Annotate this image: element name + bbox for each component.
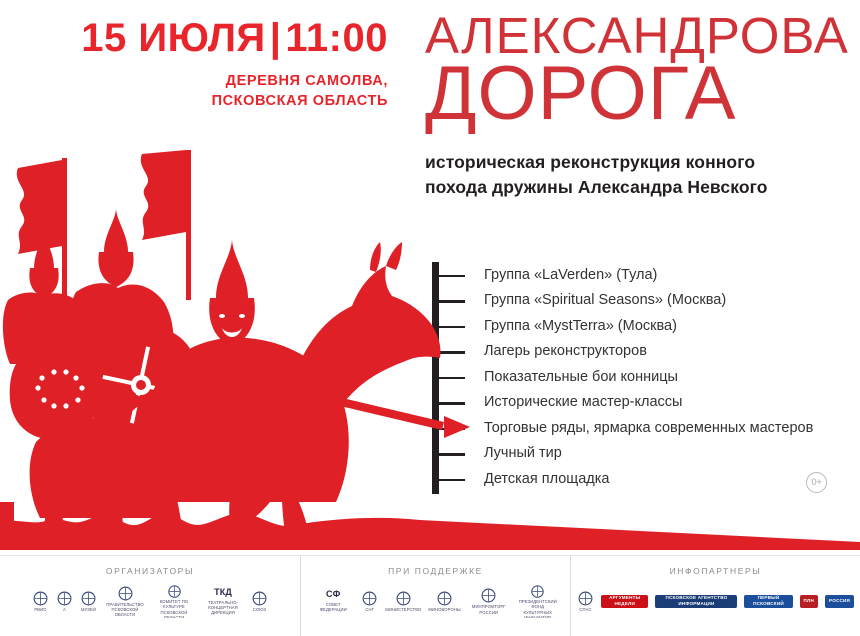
programme-item: Торговые ряды, ярмарка современных масте… — [432, 415, 852, 441]
age-rating-badge: 0+ — [806, 472, 827, 493]
programme-list-block: Группа «LaVerden» (Тула)Группа «Spiritua… — [432, 262, 852, 492]
support-heading: ПРИ ПОДДЕРЖКЕ — [301, 566, 570, 576]
partners-heading: ИНФОПАРТНЕРЫ — [571, 566, 860, 576]
museum-logo-caption: МУЗЕЙ — [81, 607, 96, 612]
event-date: 15 ИЮЛЯ — [81, 16, 265, 60]
cis-logo: СНГ — [361, 584, 378, 618]
aleksandr-nevsky-logo-caption: А — [63, 607, 66, 612]
organizers-logo-row: РВИОАМУЗЕЙПРАВИТЕЛЬСТВО ПСКОВСКОЙ ОБЛАСТ… — [0, 584, 300, 618]
argumenty-nedeli-logo: АРГУМЕНТЫ НЕДЕЛИ — [601, 595, 648, 608]
banner-left — [17, 160, 62, 254]
footer-partners: ИНФОПАРТНЕРЫ СПАСАРГУМЕНТЫ НЕДЕЛИПСКОВСК… — [570, 556, 860, 636]
date-location-block: 15 ИЮЛЯ|11:00 ДЕРЕВНЯ САМОЛВА, ПСКОВСКАЯ… — [0, 18, 400, 111]
support-logo-row: СФСОВЕТ ФЕДЕРАЦИИСНГМИНИСТЕРСТВОМИНОБОРО… — [301, 584, 570, 618]
programme-item-label: Группа «Spiritual Seasons» (Москва) — [484, 292, 726, 308]
rvio-logo-mark — [32, 590, 49, 607]
programme-list: Группа «LaVerden» (Тула)Группа «Spiritua… — [432, 262, 852, 492]
rvio-logo-caption: РВИО — [34, 607, 46, 612]
ministry-of-defence-logo-mark — [436, 590, 453, 607]
programme-item: Лагерь реконструкторов — [432, 339, 852, 365]
programme-item: Лучный тир — [432, 441, 852, 467]
programme-item-label: Торговые ряды, ярмарка современных масте… — [484, 420, 813, 436]
spas-tv-logo: СПАС — [577, 584, 594, 618]
banner-pole-middle — [186, 150, 191, 300]
footer: ОРГАНИЗАТОРЫ РВИОАМУЗЕЙПРАВИТЕЛЬСТВО ПСК… — [0, 555, 860, 636]
event-poster: 15 ИЮЛЯ|11:00 ДЕРЕВНЯ САМОЛВА, ПСКОВСКАЯ… — [0, 0, 860, 636]
footer-organizers: ОРГАНИЗАТОРЫ РВИОАМУЗЕЙПРАВИТЕЛЬСТВО ПСК… — [0, 556, 300, 636]
horse-ear-back — [370, 242, 381, 272]
banner-middle — [141, 150, 186, 240]
pskov-culture-committee-logo-caption: КОМИТЕТ ПО КУЛЬТУРЕ ПСКОВСКОЙ ОБЛАСТИ — [153, 599, 195, 618]
cis-logo-caption: СНГ — [365, 607, 374, 612]
minpromtorg-logo-caption: МИНПРОМТОРГ РОССИИ — [468, 604, 510, 615]
spas-tv-logo-mark — [577, 590, 594, 607]
museum-logo-mark — [80, 590, 97, 607]
programme-item-label: Группа «MystTerra» (Москва) — [484, 318, 677, 334]
programme-item-label: Детская площадка — [484, 471, 609, 487]
minpromtorg-logo-mark — [480, 587, 497, 604]
event-location: ДЕРЕВНЯ САМОЛВА, ПСКОВСКАЯ ОБЛАСТЬ — [0, 72, 388, 111]
presidential-cultural-fund-logo-caption: ПРЕЗИДЕНТСКИЙ ФОНД КУЛЬТУРНЫХ ИНИЦИАТИВ — [517, 599, 559, 618]
rossiya-logo: РОССИЯ — [825, 595, 854, 608]
spas-tv-logo-caption: СПАС — [579, 607, 591, 612]
warriors-illustration — [0, 150, 470, 550]
title-block: АЛЕКСАНДРОВА ДОРОГА историческая реконст… — [425, 10, 855, 200]
warrior-middle-head — [98, 252, 133, 287]
horse-ear-front — [386, 242, 402, 270]
pskov-government-logo-caption: ПРАВИТЕЛЬСТВО ПСКОВСКОЙ ОБЛАСТИ — [104, 602, 146, 618]
aleksandr-nevsky-logo: А — [56, 584, 73, 618]
rvio-logo: РВИО — [32, 584, 49, 618]
tkd-logo-caption: ТЕАТРАЛЬНО-КОНЦЕРТНАЯ ДИРЕКЦИЯ — [202, 600, 244, 616]
ground-band — [0, 513, 470, 550]
event-subtitle: историческая реконструкция конного поход… — [425, 150, 855, 200]
pln-logo: ПЛН — [800, 595, 818, 608]
warrior-front-helmet — [216, 238, 248, 298]
shield-boss-middle — [136, 380, 146, 390]
programme-item-label: Исторические мастер-классы — [484, 394, 682, 410]
subtitle-line-2: похода дружины Александра Невского — [425, 175, 855, 200]
programme-item-label: Лагерь реконструкторов — [484, 343, 647, 359]
russian-heritage-logo-caption: СОЮЗ — [253, 607, 266, 612]
spear-tip — [444, 416, 470, 438]
federation-council-logo-mark: СФ — [326, 589, 340, 600]
presidential-cultural-fund-logo-mark — [529, 584, 546, 599]
ministry-eagle-logo: МИНИСТЕРСТВО — [385, 584, 421, 618]
page-title-line-2: ДОРОГА — [425, 56, 855, 132]
programme-item: Группа «MystTerra» (Москва) — [432, 313, 852, 339]
subtitle-line-1: историческая реконструкция конного — [425, 150, 855, 175]
programme-item-label: Группа «LaVerden» (Тула) — [484, 267, 657, 283]
russian-heritage-logo: СОЮЗ — [251, 584, 268, 618]
programme-item: Группа «Spiritual Seasons» (Москва) — [432, 288, 852, 314]
event-datetime: 15 ИЮЛЯ|11:00 — [0, 18, 388, 58]
location-line-1: ДЕРЕВНЯ САМОЛВА, — [0, 72, 388, 92]
ministry-eagle-logo-caption: МИНИСТЕРСТВО — [385, 607, 421, 612]
presidential-cultural-fund-logo: ПРЕЗИДЕНТСКИЙ ФОНД КУЛЬТУРНЫХ ИНИЦИАТИВ — [517, 584, 559, 618]
tkd-logo-mark: ТКД — [214, 587, 232, 598]
russian-heritage-logo-mark — [251, 590, 268, 607]
museum-logo: МУЗЕЙ — [80, 584, 97, 618]
ministry-of-defence-logo: МИНОБОРОНЫ — [428, 584, 460, 618]
programme-item: Детская площадка — [432, 466, 852, 492]
programme-item: Группа «LaVerden» (Тула) — [432, 262, 852, 288]
programme-item-label: Лучный тир — [484, 445, 562, 461]
partners-logo-row: СПАСАРГУМЕНТЫ НЕДЕЛИПСКОВСКОЕ АГЕНТСТВО … — [571, 584, 860, 618]
event-time: 11:00 — [285, 16, 388, 60]
smi-press-logo: ПСКОВСКОЕ АГЕНТСТВО ИНФОРМАЦИИ — [655, 595, 737, 608]
date-separator: | — [266, 16, 286, 60]
minpromtorg-logo: МИНПРОМТОРГ РОССИИ — [468, 584, 510, 618]
federation-council-logo: СФСОВЕТ ФЕДЕРАЦИИ — [312, 584, 354, 618]
programme-item: Показательные бои конницы — [432, 364, 852, 390]
programme-item: Исторические мастер-классы — [432, 390, 852, 416]
footer-support: ПРИ ПОДДЕРЖКЕ СФСОВЕТ ФЕДЕРАЦИИСНГМИНИСТ… — [300, 556, 570, 636]
aleksandr-nevsky-logo-mark — [56, 590, 73, 607]
warrior-middle-helmet — [104, 208, 128, 252]
tkd-logo: ТКДТЕАТРАЛЬНО-КОНЦЕРТНАЯ ДИРЕКЦИЯ — [202, 584, 244, 618]
federation-council-logo-caption: СОВЕТ ФЕДЕРАЦИИ — [312, 602, 354, 613]
pskov-government-logo-mark — [117, 585, 134, 602]
cis-logo-mark — [361, 590, 378, 607]
location-line-2: ПСКОВСКАЯ ОБЛАСТЬ — [0, 92, 388, 112]
organizers-heading: ОРГАНИЗАТОРЫ — [0, 566, 300, 576]
pskov-government-logo: ПРАВИТЕЛЬСТВО ПСКОВСКОЙ ОБЛАСТИ — [104, 584, 146, 618]
pskov-culture-committee-logo: КОМИТЕТ ПО КУЛЬТУРЕ ПСКОВСКОЙ ОБЛАСТИ — [153, 584, 195, 618]
pskov-culture-committee-logo-mark — [166, 584, 183, 599]
banner-pole-left — [62, 158, 67, 308]
programme-item-label: Показательные бои конницы — [484, 369, 678, 385]
pervy-pskovsky-logo: ПЕРВЫЙ ПСКОВСКИЙ — [744, 595, 792, 608]
ministry-of-defence-logo-caption: МИНОБОРОНЫ — [428, 607, 460, 612]
ministry-eagle-logo-mark — [395, 590, 412, 607]
